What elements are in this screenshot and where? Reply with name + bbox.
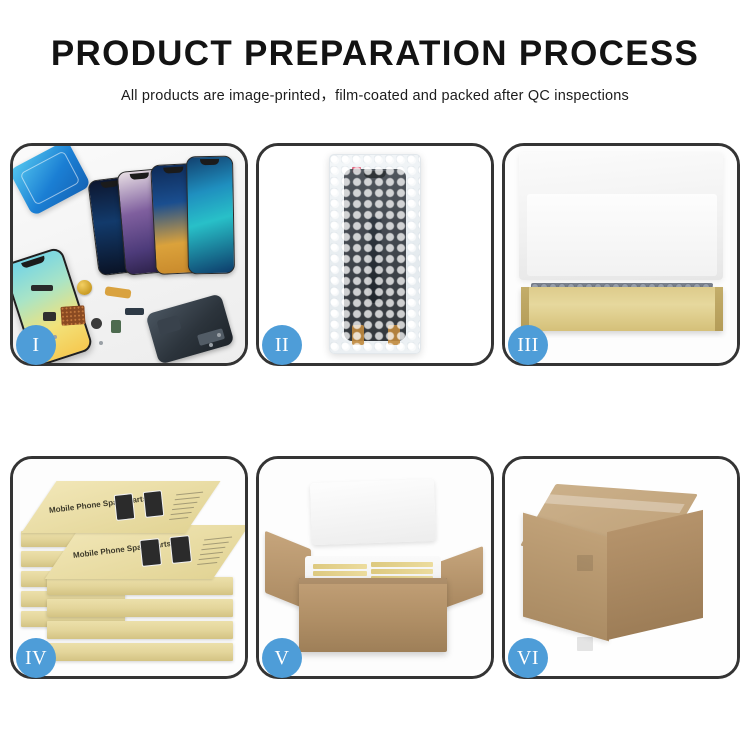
phone-chassis-icon [145, 293, 234, 363]
box-phone-graphic [139, 538, 162, 567]
screen-protector-icon [13, 146, 91, 216]
carton-side-face [607, 510, 703, 640]
step-panel-3: III [502, 143, 740, 366]
step-panel-6: VI [502, 456, 740, 679]
kraft-box-edge [47, 599, 233, 617]
phone-screen-icon [186, 156, 235, 275]
bubble-wrap-bag [329, 154, 421, 354]
kraft-box-base-icon [521, 287, 723, 331]
step-badge-5: V [262, 638, 302, 678]
packed-box [313, 571, 367, 576]
step-panel-5: V [256, 456, 494, 679]
step-panel-1: I [10, 143, 248, 366]
box-phone-graphic [169, 535, 192, 564]
flex-cable-icon [105, 286, 132, 299]
component-battery-icon [111, 320, 121, 333]
component-connector-icon [125, 308, 144, 315]
box-spec-line [169, 517, 188, 520]
step-panel-4: Mobile Phone Spare Parts Mobile Phone Sp… [10, 456, 248, 679]
foam-lid-icon [310, 479, 436, 545]
box-phone-graphic [143, 490, 165, 518]
phone-screen-fan [91, 154, 245, 274]
foam-sheet-icon [527, 194, 717, 276]
step-panel-2: II [256, 143, 494, 366]
carton-handle-tab [577, 555, 593, 571]
box-stack: Mobile Phone Spare Parts Mobile Phone Sp… [19, 473, 241, 667]
kraft-box-edge [47, 643, 233, 661]
screw-icon [99, 341, 103, 345]
flex-cable-icon [369, 217, 382, 303]
carton-body-icon [299, 578, 447, 652]
step-badge-6: VI [508, 638, 548, 678]
screw-icon [217, 333, 221, 337]
box-spec-line [172, 507, 194, 510]
screw-icon [209, 343, 213, 347]
component-chip-icon [43, 312, 56, 321]
page-title: PRODUCT PREPARATION PROCESS [0, 36, 750, 71]
kraft-box-edge [47, 577, 233, 595]
step-badge-3: III [508, 325, 548, 365]
component-mesh-icon [60, 305, 85, 326]
process-steps-grid: I II III [10, 143, 740, 679]
kraft-box-edge [47, 621, 233, 639]
box-spec-line [173, 502, 197, 506]
product-preparation-infographic: PRODUCT PREPARATION PROCESS All products… [0, 0, 750, 750]
packed-box [313, 564, 367, 569]
box-spec-line [175, 497, 200, 501]
step-badge-4: IV [16, 638, 56, 678]
packed-box [371, 562, 433, 567]
gold-connector-icon [352, 325, 364, 345]
page-subtitle: All products are image-printed，film-coat… [0, 84, 750, 105]
box-spec-line [171, 512, 192, 515]
box-spec-line [204, 537, 232, 541]
box-spec-line [176, 492, 203, 496]
step-badge-1: I [16, 325, 56, 365]
kraft-box-top-printed: Mobile Phone Spare Parts [45, 525, 245, 579]
box-phone-graphic [114, 493, 136, 521]
header: PRODUCT PREPARATION PROCESS All products… [0, 0, 750, 105]
component-strip-icon [31, 285, 53, 291]
box-spec-line [203, 542, 229, 546]
component-speaker-icon [77, 280, 92, 295]
box-spec-line [197, 562, 217, 565]
gold-connector-icon [388, 325, 400, 345]
carton-handle-tab [577, 637, 593, 651]
box-spec-line [200, 552, 223, 555]
box-spec-line [199, 557, 220, 560]
box-spec-line [201, 547, 225, 551]
kraft-box-top-printed: Mobile Phone Spare Parts [21, 481, 220, 533]
packed-box [371, 569, 433, 574]
step-badge-2: II [262, 325, 302, 365]
component-button-icon [91, 318, 102, 329]
